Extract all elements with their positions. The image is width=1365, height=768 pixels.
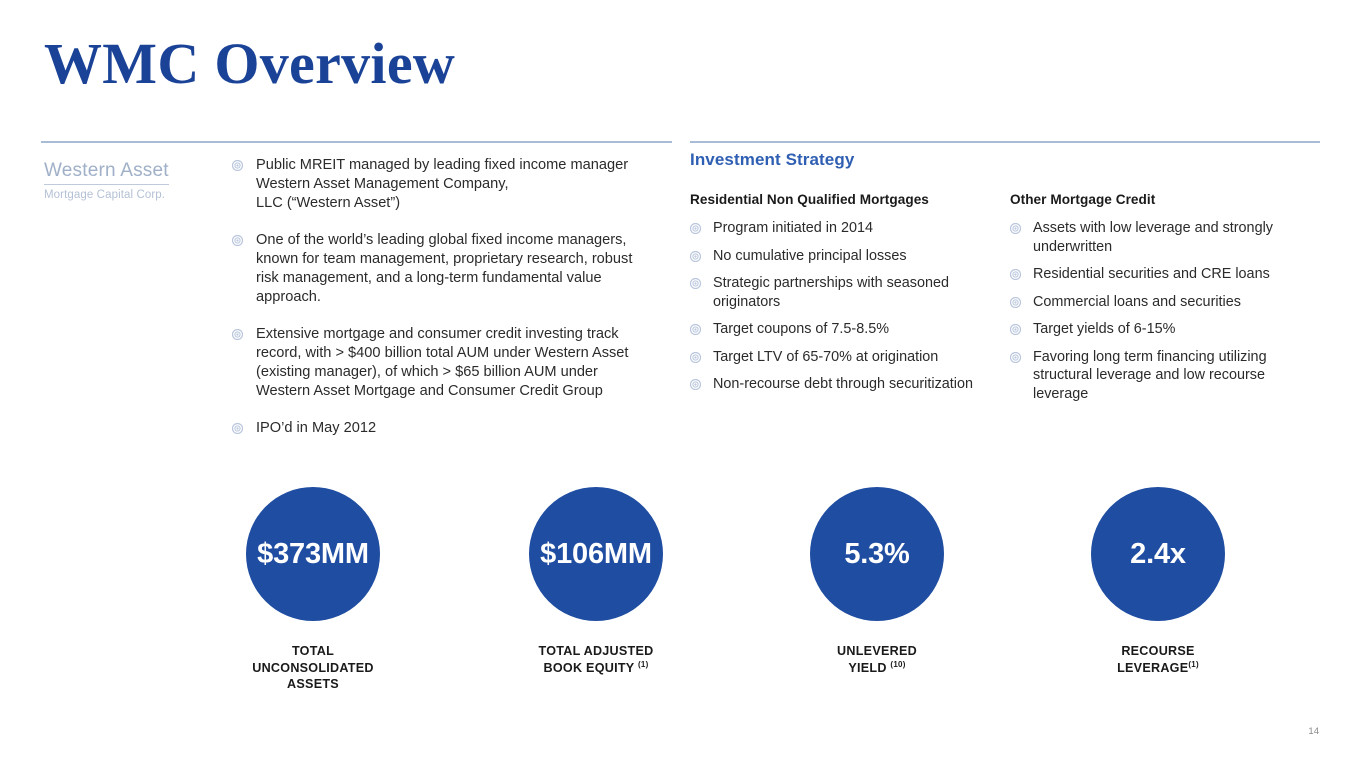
list-item: Target coupons of 7.5-8.5% [690,320,1010,339]
metric-value: 5.3% [844,540,909,569]
metric-value: $106MM [540,540,652,569]
metric-label-text: TOTAL ADJUSTED BOOK EQUITY [539,644,654,675]
list-item: Non-recourse debt through securitization [690,375,1010,394]
list-item-label: IPO’d in May 2012 [256,419,376,438]
list-item-label: Program initiated in 2014 [713,219,873,238]
metric-footnote: (1) [638,659,649,668]
divider-left [41,141,672,143]
metric-label-text: TOTAL UNCONSOLIDATED ASSETS [252,644,374,691]
column-header: Other Mortgage Credit [1010,192,1322,207]
bullet-target-icon [1010,297,1021,308]
investment-strategy-panel: Investment Strategy Residential Non Qual… [690,150,1322,403]
logo-secondary-text: Mortgage Capital Corp. [44,189,214,201]
logo-western-asset: Western Asset Mortgage Capital Corp. [44,160,214,201]
metric-circle: $373MM [246,487,380,621]
list-item: Target LTV of 65-70% at origination [690,348,1010,367]
metric-footnote: (1) [1188,659,1199,668]
bullet-target-icon [232,160,243,171]
metric-label-text: RECOURSE LEVERAGE [1117,644,1195,675]
metric-total-unconsolidated-assets: $373MM TOTAL UNCONSOLIDATED ASSETS [198,487,428,693]
bullet-target-icon [690,379,701,390]
bullet-target-icon [232,423,243,434]
list-item-label: No cumulative principal losses [713,247,907,266]
logo-primary-text: Western Asset [44,160,169,185]
list-item: Public MREIT managed by leading fixed in… [232,156,662,213]
list-item-label: Favoring long term financing utilizing s… [1033,348,1322,404]
bullet-target-icon [1010,223,1021,234]
list-item-label: Assets with low leverage and strongly un… [1033,219,1322,256]
bullet-target-icon [690,352,701,363]
list-item-label: Extensive mortgage and consumer credit i… [256,325,628,401]
bullet-target-icon [690,251,701,262]
list-item-label: Target yields of 6-15% [1033,320,1175,339]
list-item: Extensive mortgage and consumer credit i… [232,325,662,401]
page-number: 14 [1308,726,1319,737]
metric-unlevered-yield: 5.3% UNLEVERED YIELD (10) [762,487,992,676]
list-item-label: Public MREIT managed by leading fixed in… [256,156,628,213]
list-item: Favoring long term financing utilizing s… [1010,348,1322,404]
bullet-target-icon [1010,324,1021,335]
metric-circle: 5.3% [810,487,944,621]
metric-label: TOTAL ADJUSTED BOOK EQUITY (1) [481,643,711,676]
metric-circle: $106MM [529,487,663,621]
list-item: IPO’d in May 2012 [232,419,662,438]
list-item: Target yields of 6-15% [1010,320,1322,339]
bullet-target-icon [690,223,701,234]
list-item: Strategic partnerships with seasoned ori… [690,274,1010,311]
metric-label: UNLEVERED YIELD (10) [762,643,992,676]
metric-footnote: (10) [890,659,905,668]
list-item: One of the world’s leading global fixed … [232,231,662,307]
list-item-label: Residential securities and CRE loans [1033,265,1270,284]
metric-label: TOTAL UNCONSOLIDATED ASSETS [198,643,428,693]
strategy-column-other-credit: Other Mortgage Credit Assets with low le… [1010,192,1322,403]
overview-bullet-list: Public MREIT managed by leading fixed in… [232,156,662,438]
list-item-label: Strategic partnerships with seasoned ori… [713,274,1010,311]
section-title: Investment Strategy [690,150,1322,170]
page-title: WMC Overview [44,34,455,95]
bullet-target-icon [690,324,701,335]
list-item-label: Non-recourse debt through securitization [713,375,973,394]
bullet-target-icon [690,278,701,289]
list-item-label: One of the world’s leading global fixed … [256,231,632,307]
key-metrics-row: $373MM TOTAL UNCONSOLIDATED ASSETS $106M… [0,487,1365,717]
list-item-label: Target LTV of 65-70% at origination [713,348,938,367]
metric-recourse-leverage: 2.4x RECOURSE LEVERAGE(1) [1043,487,1273,676]
strategy-columns: Residential Non Qualified Mortgages Prog… [690,192,1322,403]
bullet-target-icon [1010,269,1021,280]
metric-label: RECOURSE LEVERAGE(1) [1043,643,1273,676]
list-item: Program initiated in 2014 [690,219,1010,238]
bullet-target-icon [232,235,243,246]
list-item-label: Target coupons of 7.5-8.5% [713,320,889,339]
strategy-column-residential: Residential Non Qualified Mortgages Prog… [690,192,1010,394]
list-item-label: Commercial loans and securities [1033,293,1241,312]
list-item: No cumulative principal losses [690,247,1010,266]
divider-right [690,141,1320,143]
metric-total-adjusted-book-equity: $106MM TOTAL ADJUSTED BOOK EQUITY (1) [481,487,711,676]
metric-value: 2.4x [1130,540,1186,569]
slide-root: WMC Overview Western Asset Mortgage Capi… [0,0,1365,768]
metric-value: $373MM [257,540,369,569]
metric-circle: 2.4x [1091,487,1225,621]
list-item: Assets with low leverage and strongly un… [1010,219,1322,256]
bullet-target-icon [1010,352,1021,363]
list-item: Residential securities and CRE loans [1010,265,1322,284]
list-item: Commercial loans and securities [1010,293,1322,312]
column-header: Residential Non Qualified Mortgages [690,192,1010,207]
bullet-target-icon [232,329,243,340]
